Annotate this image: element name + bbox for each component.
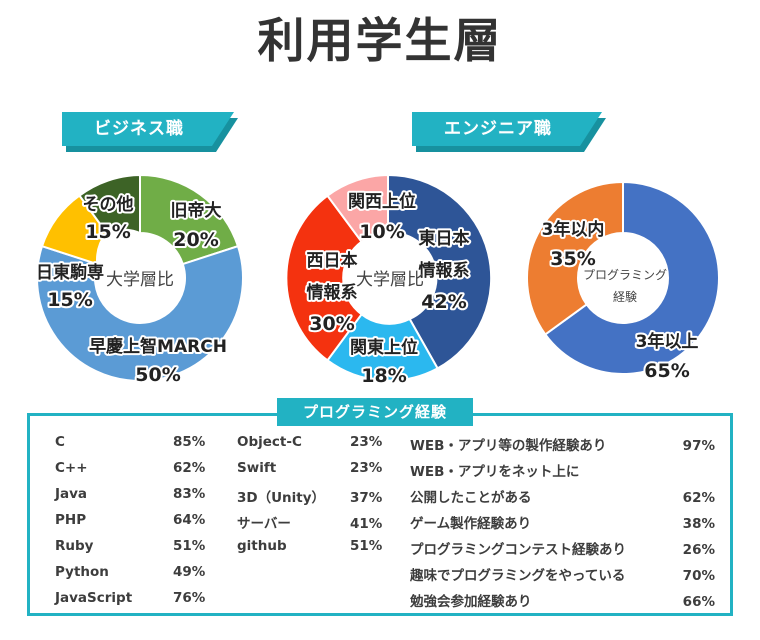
skill-percent: 70% [675,568,715,584]
skill-name: 3D（Unity） [237,486,325,506]
donut1-value-other: 15% [85,221,130,243]
skill-percent: 51% [350,538,392,554]
donut2-label-west-japan-2: 情報系 [307,282,358,303]
donut2-label-east-japan: 東日本 [419,228,470,249]
banner-business-label: ビジネス職 [62,112,216,146]
skill-name: PHP [55,512,86,528]
donut3-value-within-3yrs: 35% [550,248,595,270]
banner-engineer-label: エンジニア職 [412,112,584,146]
skill-row: Python 49% [55,564,215,590]
donut3-value-3yrs-or-more: 65% [644,360,689,382]
skill-percent: 62% [173,460,215,476]
skills-banner-label: プログラミング経験 [277,398,473,426]
skill-percent: 23% [350,460,392,476]
donut3-label-within-3yrs: 3年以内 [542,219,605,240]
donut2-label-west-japan: 西日本 [307,250,358,271]
skill-name: Ruby [55,538,93,554]
skill-percent: 38% [675,516,715,532]
skill-row: Object-C 23% [237,434,392,460]
skill-percent: 66% [675,594,715,610]
skill-row: C 85% [55,434,215,460]
skill-row: C++ 62% [55,460,215,486]
skill-percent: 23% [350,434,392,450]
skill-percent: 97% [675,438,715,454]
donut1-label-march: 早慶上智MARCH [89,336,227,357]
donut3-label-3yrs-or-more: 3年以上 [636,331,699,352]
donut2-value-west-japan: 30% [309,313,354,335]
skill-name: C [55,434,65,450]
skill-row: 公開したことがある 62% [410,486,715,512]
skills-column-languages: C 85% C++ 62% Java 83% PHP 64% Ruby 51% … [55,434,215,616]
donut2-label-east-japan-2: 情報系 [419,260,470,281]
skill-name: Java [55,486,87,502]
skill-percent: 49% [173,564,215,580]
banner-engineer-track: エンジニア職 [412,112,602,146]
skill-row: サーバー 41% [237,512,392,538]
skill-name: 勉強会参加経験あり [410,590,532,610]
donut1-label-other: その他 [83,194,134,215]
donut1-label-nittoukomasen: 日東駒専 [36,262,104,283]
skill-name: Swift [237,460,276,476]
donut1-center-label: 大学層比 [106,270,174,290]
skill-row: Java 83% [55,486,215,512]
donut2-value-east-japan: 42% [421,291,466,313]
donut-chart-university-engineer: 東日本 情報系 42% 関東上位 18% 西日本 情報系 30% 関西上位 10… [278,168,502,390]
donut2-label-kansai-top: 関西上位 [348,191,416,212]
skill-percent: 64% [173,512,215,528]
skill-row: 3D（Unity） 37% [237,486,392,512]
skill-row: Swift 23% [237,460,392,486]
skill-percent: 37% [350,490,392,506]
skill-name: WEB・アプリ等の製作経験あり [410,434,606,454]
donut2-value-kansai-top: 10% [359,221,404,243]
donut2-value-kanto-top: 18% [361,365,406,387]
skill-row: WEB・アプリをネット上に [410,460,715,486]
skill-percent: 85% [173,434,215,450]
donut3-center-label-line2: 経験 [613,289,637,304]
skill-percent: 76% [173,590,215,606]
skill-name: JavaScript [55,590,132,606]
skill-row: WEB・アプリ等の製作経験あり 97% [410,434,715,460]
skill-percent: 83% [173,486,215,502]
skill-row: ゲーム製作経験あり 38% [410,512,715,538]
skill-row: 趣味でプログラミングをやっている 70% [410,564,715,590]
donut2-center-label: 大学層比 [356,270,424,290]
skill-percent: 41% [350,516,392,532]
donut1-value-march: 50% [135,364,180,386]
skill-name: ゲーム製作経験あり [410,512,531,532]
skill-row: 勉強会参加経験あり 66% [410,590,715,616]
skill-percent: 51% [173,538,215,554]
skill-row: Ruby 51% [55,538,215,564]
skill-row: github 51% [237,538,392,564]
skill-name: 趣味でプログラミングをやっている [410,564,625,584]
skills-column-tools: Object-C 23% Swift 23% 3D（Unity） 37% サーバ… [237,434,392,564]
skill-name: サーバー [237,512,291,532]
donut-chart-university-business: 旧帝大 20% 早慶上智MARCH 50% 日東駒専 15% その他 15% 大… [30,168,254,390]
skill-percent: 26% [675,542,715,558]
page-title: 利用学生層 [0,16,760,68]
skill-name: プログラミングコンテスト経験あり [410,538,626,558]
donut1-value-kyuteidai: 20% [173,229,218,251]
donut1-value-nittoukomasen: 15% [47,289,92,311]
donut2-label-kanto-top: 関東上位 [350,337,418,358]
skill-name: Python [55,564,109,580]
skills-column-experience: WEB・アプリ等の製作経験あり 97% WEB・アプリをネット上に 公開したこと… [410,434,715,616]
skill-name: github [237,538,287,554]
skill-row: PHP 64% [55,512,215,538]
donut-chart-programming-years: 3年以上 65% 3年以内 35% プログラミング 経験 [525,181,725,379]
skill-name: 公開したことがある [410,486,532,506]
skill-name: Object-C [237,434,302,450]
skill-percent: 62% [675,490,715,506]
donut1-label-kyuteidai: 旧帝大 [171,200,222,221]
skill-name: C++ [55,460,88,476]
skill-name: WEB・アプリをネット上に [410,460,579,480]
skill-row: プログラミングコンテスト経験あり 26% [410,538,715,564]
skill-row: JavaScript 76% [55,590,215,616]
banner-business-track: ビジネス職 [62,112,234,146]
donut3-center-label-line1: プログラミング [583,268,667,282]
